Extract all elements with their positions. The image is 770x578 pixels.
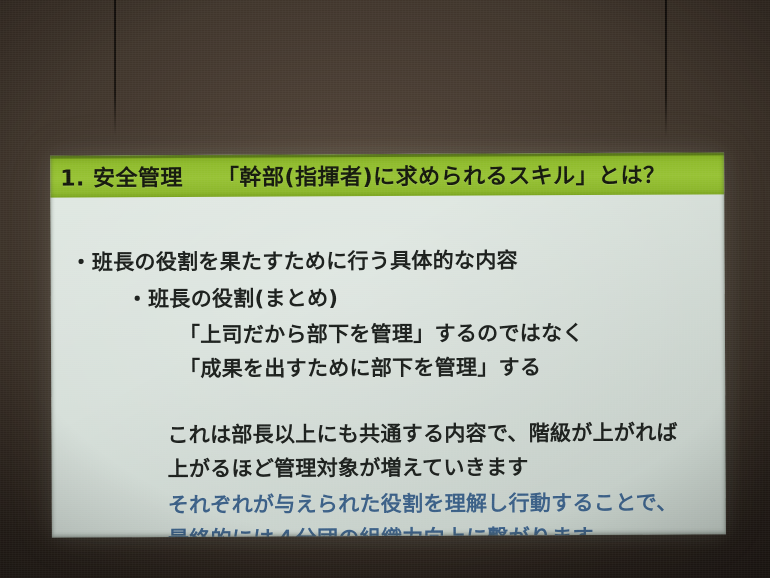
body-line-6: 上がるほど管理対象が増えていきます xyxy=(168,451,529,483)
slide-title: 1. 安全管理 「幹部(指揮者)に求められるスキル」とは？ xyxy=(60,158,666,193)
body-line-8-accent: 最終的には４分団の組織力向上に繋がります xyxy=(168,521,594,538)
body-line-4: 「成果を出すために部下を管理」する xyxy=(179,351,541,383)
wall-seam-right xyxy=(665,0,667,138)
projected-slide: 1. 安全管理 「幹部(指揮者)に求められるスキル」とは？ ・班長の役割を果たす… xyxy=(50,152,726,537)
room-photo: 1. 安全管理 「幹部(指揮者)に求められるスキル」とは？ ・班長の役割を果たす… xyxy=(0,0,770,578)
body-line-2: ・班長の役割(まとめ) xyxy=(127,282,339,313)
body-line-1: ・班長の役割を果たすために行う具体的な内容 xyxy=(71,244,518,276)
wall-seam-left xyxy=(114,0,116,136)
body-line-3: 「上司だから部下を管理」するのではなく xyxy=(179,317,584,349)
body-line-5: これは部長以上にも共通する内容で、階級が上がれば xyxy=(167,417,677,449)
slide-title-band: 1. 安全管理 「幹部(指揮者)に求められるスキル」とは？ xyxy=(50,152,724,197)
body-line-7-accent: それぞれが与えられた役割を理解し行動することで、 xyxy=(168,487,678,519)
